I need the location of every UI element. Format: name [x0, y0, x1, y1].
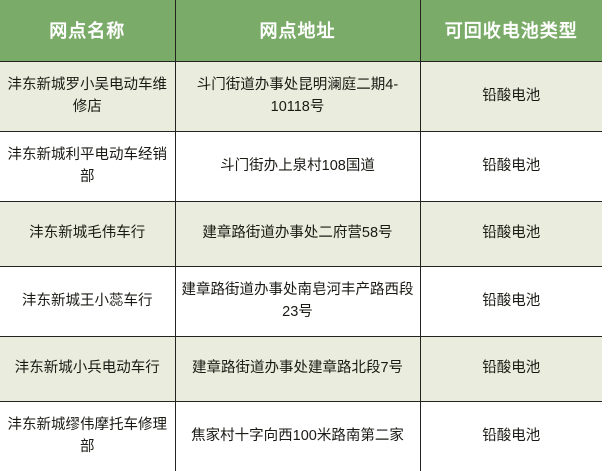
table-row: 沣东新城缪伟摩托车修理部 焦家村十字向西100米路南第二家 铅酸电池: [0, 401, 602, 471]
cell-site-name: 沣东新城利平电动车经销部: [0, 131, 175, 201]
table-row: 沣东新城小兵电动车行 建章路街道办事处建章路北段7号 铅酸电池: [0, 336, 602, 401]
cell-site-name: 沣东新城缪伟摩托车修理部: [0, 401, 175, 471]
cell-battery-type: 铅酸电池: [420, 336, 602, 401]
cell-battery-type: 铅酸电池: [420, 61, 602, 131]
recycling-points-table-container: 网点名称 网点地址 可回收电池类型 沣东新城罗小吴电动车维修店 斗门街道办事处昆…: [0, 0, 610, 463]
cell-site-address: 焦家村十字向西100米路南第二家: [175, 401, 420, 471]
cell-site-address: 斗门街道办事处昆明澜庭二期4-10118号: [175, 61, 420, 131]
cell-site-name: 沣东新城毛伟车行: [0, 201, 175, 266]
cell-battery-type: 铅酸电池: [420, 131, 602, 201]
cell-site-address: 斗门街办上泉村108国道: [175, 131, 420, 201]
cell-battery-type: 铅酸电池: [420, 266, 602, 336]
table-row: 沣东新城王小蕊车行 建章路街道办事处南皂河丰产路西段23号 铅酸电池: [0, 266, 602, 336]
cell-site-name: 沣东新城王小蕊车行: [0, 266, 175, 336]
table-row: 沣东新城毛伟车行 建章路街道办事处二府营58号 铅酸电池: [0, 201, 602, 266]
cell-site-address: 建章路街道办事处二府营58号: [175, 201, 420, 266]
table-header: 网点名称 网点地址 可回收电池类型: [0, 0, 602, 61]
table-body: 沣东新城罗小吴电动车维修店 斗门街道办事处昆明澜庭二期4-10118号 铅酸电池…: [0, 61, 602, 471]
cell-site-address: 建章路街道办事处南皂河丰产路西段23号: [175, 266, 420, 336]
table-header-row: 网点名称 网点地址 可回收电池类型: [0, 0, 602, 61]
column-header-address: 网点地址: [175, 0, 420, 61]
cell-site-name: 沣东新城罗小吴电动车维修店: [0, 61, 175, 131]
cell-site-address: 建章路街道办事处建章路北段7号: [175, 336, 420, 401]
recycling-points-table: 网点名称 网点地址 可回收电池类型 沣东新城罗小吴电动车维修店 斗门街道办事处昆…: [0, 0, 602, 471]
cell-battery-type: 铅酸电池: [420, 201, 602, 266]
column-header-type: 可回收电池类型: [420, 0, 602, 61]
table-row: 沣东新城利平电动车经销部 斗门街办上泉村108国道 铅酸电池: [0, 131, 602, 201]
cell-site-name: 沣东新城小兵电动车行: [0, 336, 175, 401]
table-row: 沣东新城罗小吴电动车维修店 斗门街道办事处昆明澜庭二期4-10118号 铅酸电池: [0, 61, 602, 131]
cell-battery-type: 铅酸电池: [420, 401, 602, 471]
column-header-name: 网点名称: [0, 0, 175, 61]
